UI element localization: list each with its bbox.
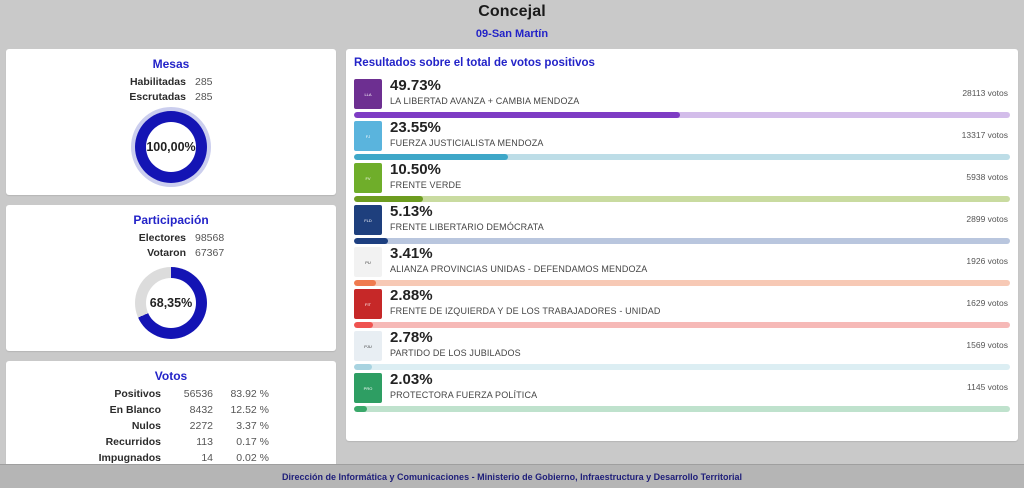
party-percent: 5.13% bbox=[390, 203, 926, 220]
party-bar-track bbox=[354, 406, 1010, 412]
mesas-row: Escrutadas 285 bbox=[6, 90, 336, 105]
party-main: PJU2.78%PARTIDO DE LOS JUBILADOS1569 vot… bbox=[354, 329, 1010, 361]
participacion-row: Votaron 67367 bbox=[6, 246, 336, 261]
party-bar-track bbox=[354, 238, 1010, 244]
votos-label: Nulos bbox=[73, 418, 161, 434]
party-text: 10.50%FRENTE VERDE bbox=[382, 161, 926, 192]
party-logo-icon: PU bbox=[354, 247, 382, 277]
donut-hole: 68,35% bbox=[146, 278, 196, 328]
party-percent: 2.03% bbox=[390, 371, 926, 388]
party-percent: 2.78% bbox=[390, 329, 926, 346]
party-logo-icon: PRO bbox=[354, 373, 382, 403]
party-result-row[interactable]: PRO2.03%PROTECTORA FUERZA POLÍTICA1145 v… bbox=[354, 371, 1010, 412]
party-bar-fill bbox=[354, 154, 508, 160]
mesas-donut-wrap: 100,00% bbox=[6, 105, 336, 195]
party-percent: 2.88% bbox=[390, 287, 926, 304]
mesas-card: Mesas Habilitadas 285 Escrutadas 285 bbox=[6, 49, 336, 195]
party-votes: 28113 votos bbox=[926, 77, 1010, 98]
party-result-row[interactable]: LLA49.73%LA LIBERTAD AVANZA + CAMBIA MEN… bbox=[354, 77, 1010, 118]
party-main: FIT2.88%FRENTE DE IZQUIERDA Y DE LOS TRA… bbox=[354, 287, 1010, 319]
mesas-donut-value: 100,00% bbox=[146, 140, 195, 154]
party-logo-icon: LLA bbox=[354, 79, 382, 109]
votos-percent: 3.37 % bbox=[213, 418, 269, 434]
party-votes: 1569 votos bbox=[926, 329, 1010, 350]
party-text: 49.73%LA LIBERTAD AVANZA + CAMBIA MENDOZ… bbox=[382, 77, 926, 108]
party-logo-icon: FIT bbox=[354, 289, 382, 319]
party-text: 23.55%FUERZA JUSTICIALISTA MENDOZA bbox=[382, 119, 926, 150]
party-logo-icon: FJ bbox=[354, 121, 382, 151]
party-main: LLA49.73%LA LIBERTAD AVANZA + CAMBIA MEN… bbox=[354, 77, 1010, 109]
party-main: PU3.41%ALIANZA PROVINCIAS UNIDAS - DEFEN… bbox=[354, 245, 1010, 277]
party-percent: 10.50% bbox=[390, 161, 926, 178]
party-text: 3.41%ALIANZA PROVINCIAS UNIDAS - DEFENDA… bbox=[382, 245, 926, 276]
participacion-label: Electores bbox=[94, 231, 186, 246]
votos-row: Nulos22723.37 % bbox=[6, 418, 336, 434]
participacion-row: Electores 98568 bbox=[6, 231, 336, 246]
party-logo-icon: FLD bbox=[354, 205, 382, 235]
party-name: PARTIDO DE LOS JUBILADOS bbox=[390, 347, 926, 360]
party-bar-fill bbox=[354, 238, 388, 244]
party-votes: 1926 votos bbox=[926, 245, 1010, 266]
party-results-list: LLA49.73%LA LIBERTAD AVANZA + CAMBIA MEN… bbox=[354, 77, 1010, 412]
party-bar-fill bbox=[354, 196, 423, 202]
party-text: 2.78%PARTIDO DE LOS JUBILADOS bbox=[382, 329, 926, 360]
party-main: FJ23.55%FUERZA JUSTICIALISTA MENDOZA1331… bbox=[354, 119, 1010, 151]
party-text: 2.88%FRENTE DE IZQUIERDA Y DE LOS TRABAJ… bbox=[382, 287, 926, 318]
party-bar-track bbox=[354, 280, 1010, 286]
party-result-row[interactable]: PJU2.78%PARTIDO DE LOS JUBILADOS1569 vot… bbox=[354, 329, 1010, 370]
votos-row: En Blanco843212.52 % bbox=[6, 402, 336, 418]
summary-sidebar: Mesas Habilitadas 285 Escrutadas 285 bbox=[6, 49, 336, 478]
party-bar-track bbox=[354, 154, 1010, 160]
mesas-value: 285 bbox=[186, 75, 248, 90]
donut-hole: 100,00% bbox=[146, 122, 196, 172]
party-bar-fill bbox=[354, 280, 376, 286]
party-name: PROTECTORA FUERZA POLÍTICA bbox=[390, 389, 926, 402]
participacion-donut-wrap: 68,35% bbox=[6, 261, 336, 351]
participacion-stats: Electores 98568 Votaron 67367 bbox=[6, 231, 336, 261]
party-bar-track bbox=[354, 364, 1010, 370]
party-name: FUERZA JUSTICIALISTA MENDOZA bbox=[390, 137, 926, 150]
party-name: FRENTE LIBERTARIO DEMÓCRATA bbox=[390, 221, 926, 234]
footer-text: Dirección de Informática y Comunicacione… bbox=[282, 472, 742, 482]
mesas-value: 285 bbox=[186, 90, 248, 105]
party-bar-fill bbox=[354, 112, 680, 118]
party-percent: 49.73% bbox=[390, 77, 926, 94]
participacion-donut-chart: 68,35% bbox=[135, 267, 207, 339]
party-main: FV10.50%FRENTE VERDE5938 votos bbox=[354, 161, 1010, 193]
results-column: Resultados sobre el total de votos posit… bbox=[346, 49, 1018, 441]
page-body: Mesas Habilitadas 285 Escrutadas 285 bbox=[0, 49, 1024, 478]
party-main: PRO2.03%PROTECTORA FUERZA POLÍTICA1145 v… bbox=[354, 371, 1010, 403]
party-main: FLD5.13%FRENTE LIBERTARIO DEMÓCRATA2899 … bbox=[354, 203, 1010, 235]
party-bar-track bbox=[354, 322, 1010, 328]
party-result-row[interactable]: FLD5.13%FRENTE LIBERTARIO DEMÓCRATA2899 … bbox=[354, 203, 1010, 244]
votos-label: Recurridos bbox=[73, 434, 161, 450]
votos-percent: 0.17 % bbox=[213, 434, 269, 450]
votos-count: 8432 bbox=[161, 402, 213, 418]
party-votes: 2899 votos bbox=[926, 203, 1010, 224]
party-votes: 13317 votos bbox=[926, 119, 1010, 140]
party-votes: 1145 votos bbox=[926, 371, 1010, 392]
party-name: LA LIBERTAD AVANZA + CAMBIA MENDOZA bbox=[390, 95, 926, 108]
party-text: 2.03%PROTECTORA FUERZA POLÍTICA bbox=[382, 371, 926, 402]
page-title: Concejal bbox=[0, 2, 1024, 22]
participacion-donut-value: 68,35% bbox=[150, 296, 192, 310]
party-votes: 5938 votos bbox=[926, 161, 1010, 182]
party-percent: 3.41% bbox=[390, 245, 926, 262]
party-bar-fill bbox=[354, 406, 367, 412]
votos-row: Recurridos1130.17 % bbox=[6, 434, 336, 450]
mesas-donut-chart: 100,00% bbox=[135, 111, 207, 183]
votos-label: En Blanco bbox=[73, 402, 161, 418]
participacion-card: Participación Electores 98568 Votaron 67… bbox=[6, 205, 336, 351]
votos-percent: 12.52 % bbox=[213, 402, 269, 418]
party-logo-icon: FV bbox=[354, 163, 382, 193]
votos-count: 2272 bbox=[161, 418, 213, 434]
mesas-label: Habilitadas bbox=[94, 75, 186, 90]
results-card: Resultados sobre el total de votos posit… bbox=[346, 49, 1018, 441]
party-percent: 23.55% bbox=[390, 119, 926, 136]
participacion-value: 67367 bbox=[186, 246, 248, 261]
party-bar-fill bbox=[354, 322, 373, 328]
party-bar-track bbox=[354, 196, 1010, 202]
participacion-value: 98568 bbox=[186, 231, 248, 246]
page-header: Concejal 09-San Martín bbox=[0, 0, 1024, 41]
party-text: 5.13%FRENTE LIBERTARIO DEMÓCRATA bbox=[382, 203, 926, 234]
votos-percent: 83.92 % bbox=[213, 386, 269, 402]
votos-title: Votos bbox=[6, 361, 336, 384]
party-result-row[interactable]: FJ23.55%FUERZA JUSTICIALISTA MENDOZA1331… bbox=[354, 119, 1010, 160]
party-result-row[interactable]: FIT2.88%FRENTE DE IZQUIERDA Y DE LOS TRA… bbox=[354, 287, 1010, 328]
party-bar-track bbox=[354, 112, 1010, 118]
mesas-row: Habilitadas 285 bbox=[6, 75, 336, 90]
party-votes: 1629 votos bbox=[926, 287, 1010, 308]
mesas-stats: Habilitadas 285 Escrutadas 285 bbox=[6, 75, 336, 105]
mesas-label: Escrutadas bbox=[94, 90, 186, 105]
participacion-label: Votaron bbox=[94, 246, 186, 261]
votos-row: Positivos5653683.92 % bbox=[6, 386, 336, 402]
party-name: ALIANZA PROVINCIAS UNIDAS - DEFENDAMOS M… bbox=[390, 263, 926, 276]
mesas-title: Mesas bbox=[6, 49, 336, 72]
results-title: Resultados sobre el total de votos posit… bbox=[354, 56, 1010, 71]
votos-count: 113 bbox=[161, 434, 213, 450]
page-footer: Dirección de Informática y Comunicacione… bbox=[0, 464, 1024, 488]
party-bar-fill bbox=[354, 364, 372, 370]
party-result-row[interactable]: PU3.41%ALIANZA PROVINCIAS UNIDAS - DEFEN… bbox=[354, 245, 1010, 286]
votos-label: Positivos bbox=[73, 386, 161, 402]
participacion-title: Participación bbox=[6, 205, 336, 228]
votos-card: Votos Positivos5653683.92 %En Blanco8432… bbox=[6, 361, 336, 478]
party-name: FRENTE VERDE bbox=[390, 179, 926, 192]
party-name: FRENTE DE IZQUIERDA Y DE LOS TRABAJADORE… bbox=[390, 305, 926, 318]
party-logo-icon: PJU bbox=[354, 331, 382, 361]
page-subtitle: 09-San Martín bbox=[0, 27, 1024, 41]
election-results-page: Concejal 09-San Martín Mesas Habilitadas… bbox=[0, 0, 1024, 488]
party-result-row[interactable]: FV10.50%FRENTE VERDE5938 votos bbox=[354, 161, 1010, 202]
votos-count: 56536 bbox=[161, 386, 213, 402]
